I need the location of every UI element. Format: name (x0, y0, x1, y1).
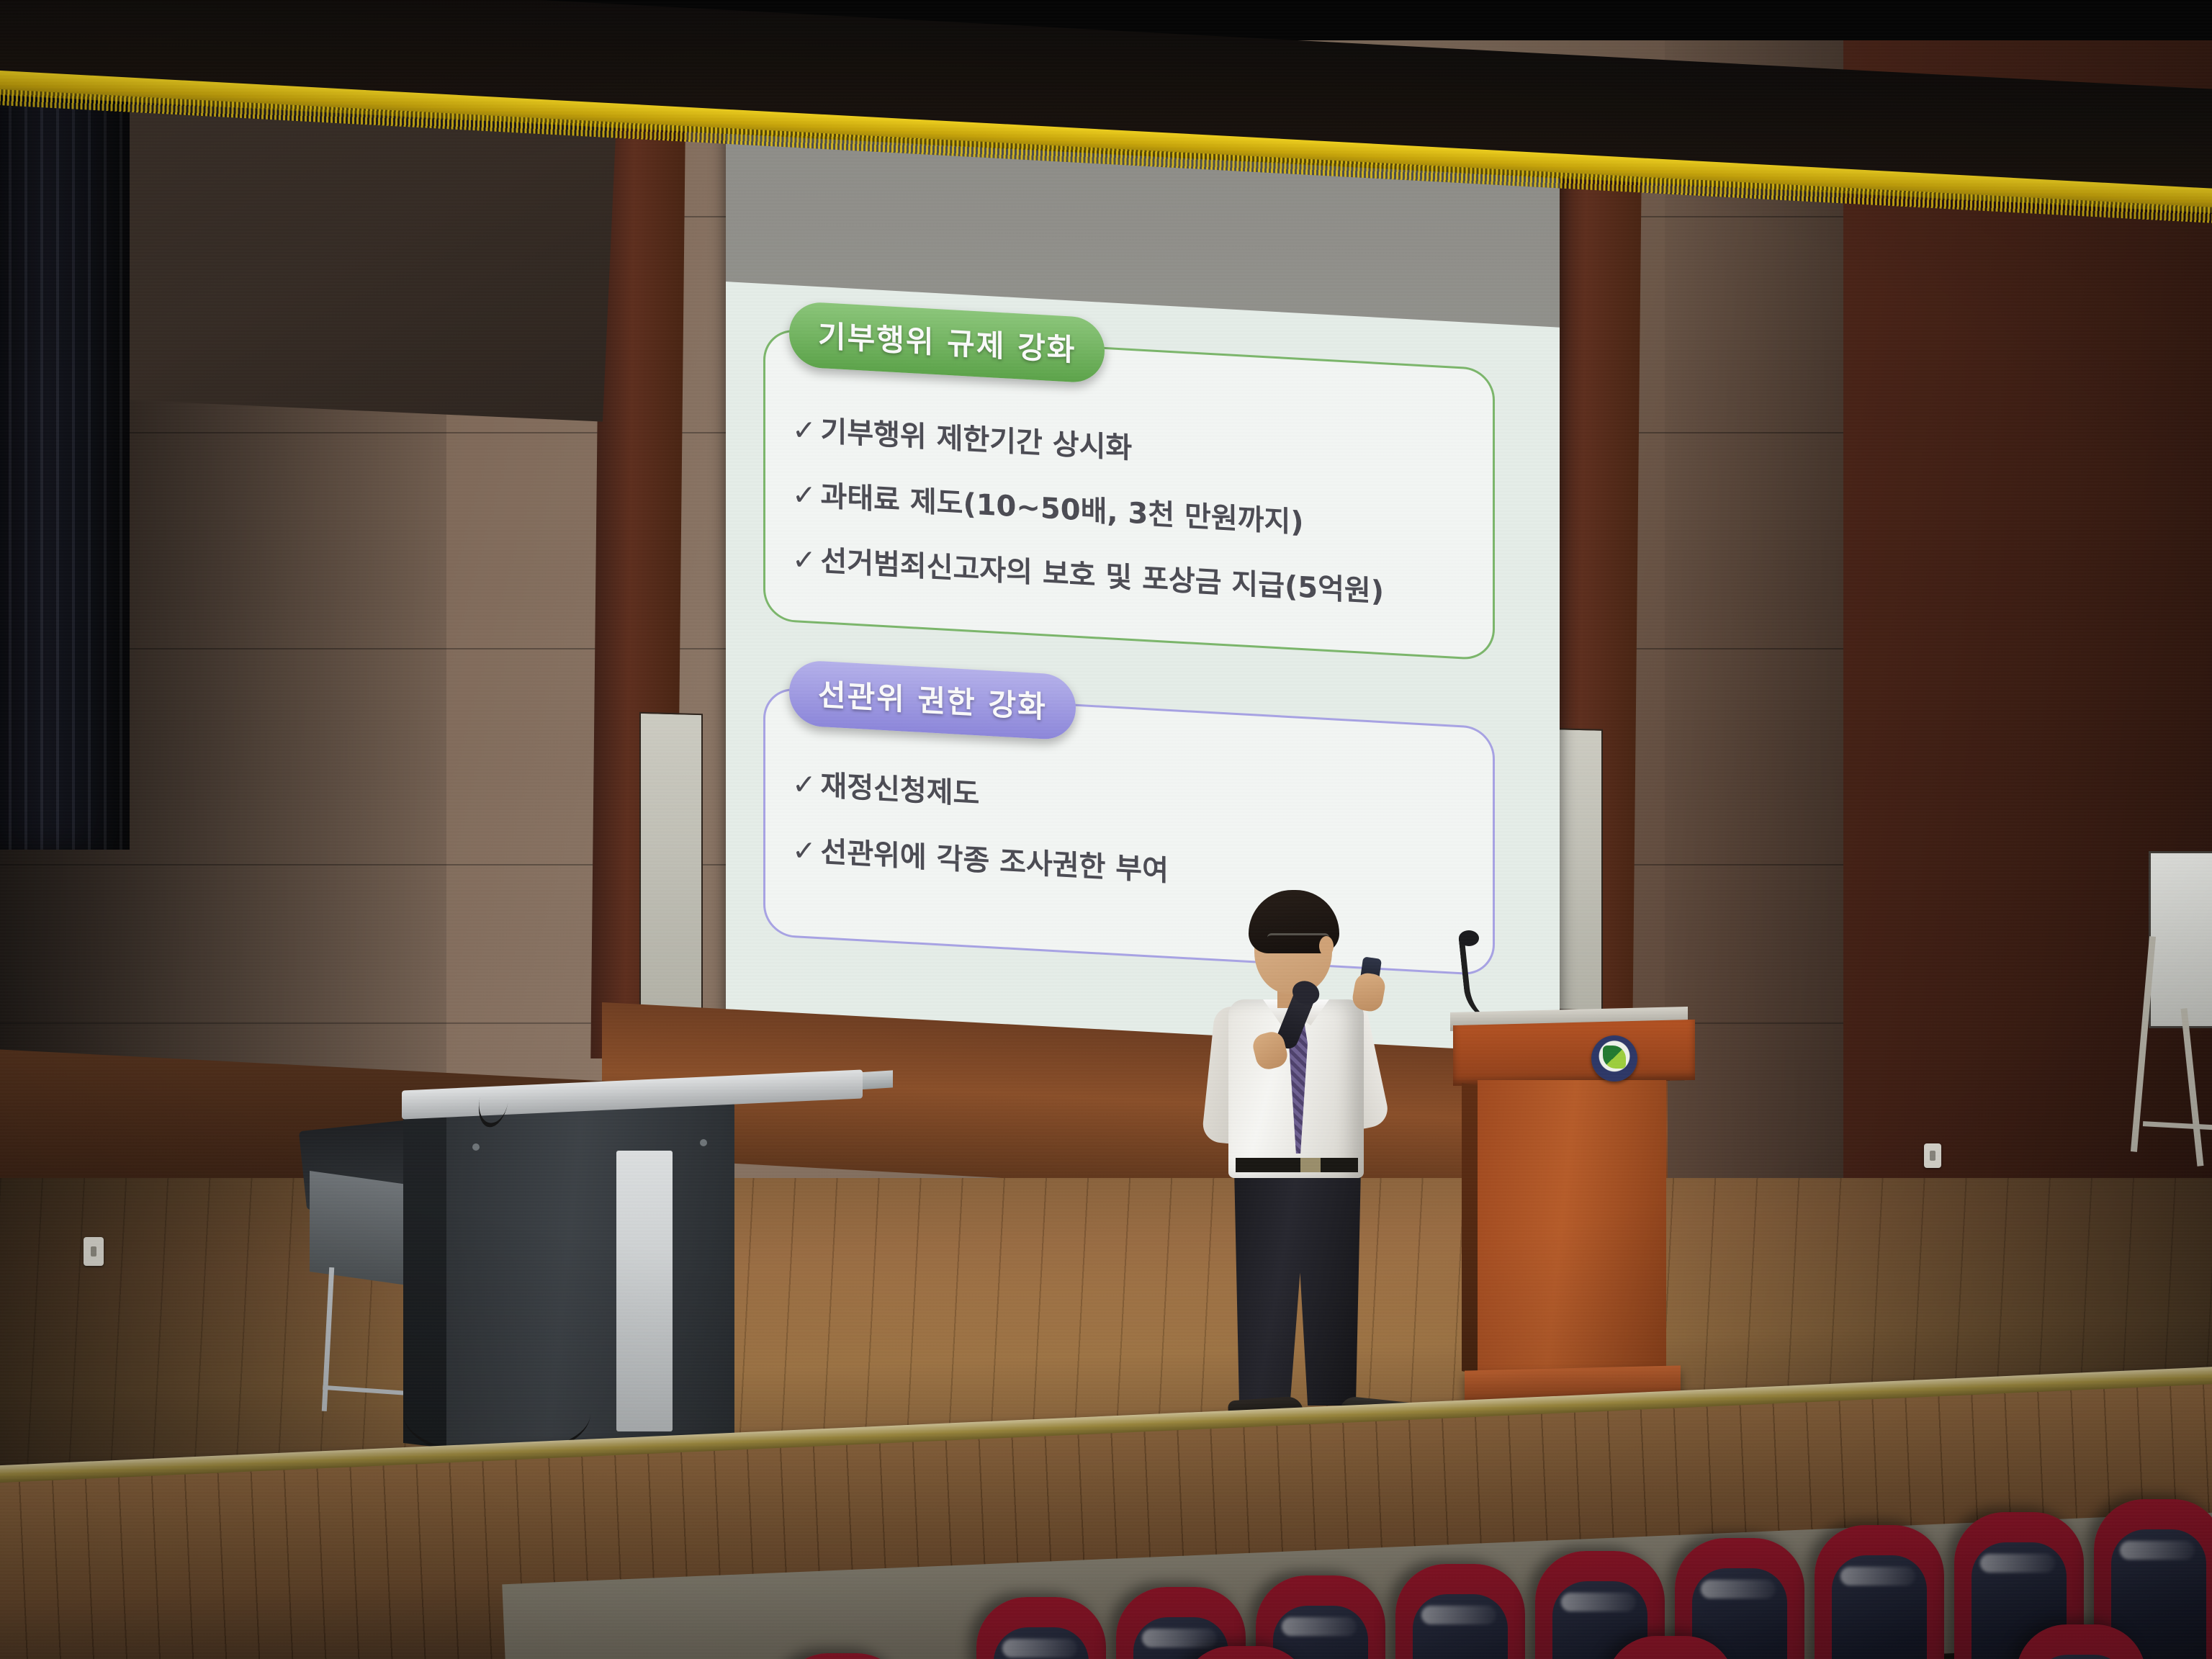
seat-highlight (1561, 1593, 1636, 1611)
speaker-panel-right (1555, 728, 1603, 1012)
institution-emblem-icon (1591, 1035, 1637, 1082)
flipchart-board (2149, 851, 2212, 1028)
auditorium-seating (0, 1509, 2212, 1659)
presenter-belt (1236, 1158, 1358, 1172)
presentation-slide: 기부행위 규제 강화 ✓기부행위 제한기간 상시화 ✓과태료 제도(10~50배… (726, 282, 1560, 1082)
check-icon: ✓ (792, 413, 817, 448)
auditorium-seat[interactable] (1395, 1564, 1525, 1659)
lectern-screw (700, 1139, 707, 1146)
lectern-screw (472, 1143, 480, 1151)
seat-highlight (1840, 1567, 1915, 1586)
slide-bullet-text: 재정신청제도 (821, 769, 980, 811)
seat-pad (1413, 1594, 1508, 1659)
seat-highlight (1980, 1554, 2055, 1573)
seat-pad (2033, 1655, 2128, 1659)
speaker-panel-left (639, 712, 703, 1019)
auditorium-seat[interactable] (778, 1653, 907, 1659)
projection-screen: 기부행위 규제 강화 ✓기부행위 제한기간 상시화 ✓과태료 제도(10~50배… (726, 91, 1560, 1082)
stage-curtain (0, 0, 130, 850)
seat-highlight (1142, 1629, 1217, 1647)
auditorium-seat[interactable] (1256, 1575, 1385, 1659)
seat-highlight (1282, 1617, 1357, 1636)
seat-highlight (1002, 1639, 1077, 1658)
check-icon: ✓ (792, 768, 817, 802)
auditorium-seat[interactable] (1815, 1525, 1944, 1659)
seat-highlight (2120, 1541, 2195, 1560)
check-icon: ✓ (792, 478, 817, 513)
av-lectern-accent-panel (616, 1151, 673, 1431)
podium-body[interactable] (1478, 1080, 1666, 1384)
podium-head (1453, 1020, 1695, 1086)
presenter-belt-buckle (1300, 1158, 1321, 1172)
check-icon: ✓ (792, 834, 817, 868)
eyeglasses-icon (1267, 933, 1329, 950)
seat-highlight (1701, 1580, 1776, 1599)
wall-outlet (1924, 1143, 1941, 1168)
seat-highlight (1421, 1606, 1496, 1624)
wall-outlet (84, 1237, 104, 1266)
check-icon: ✓ (792, 543, 817, 577)
microphone-capsule-icon (1459, 930, 1479, 946)
auditorium-scene: 기부행위 규제 강화 ✓기부행위 제한기간 상시화 ✓과태료 제도(10~50배… (0, 0, 2212, 1659)
auditorium-seat[interactable] (976, 1597, 1106, 1659)
